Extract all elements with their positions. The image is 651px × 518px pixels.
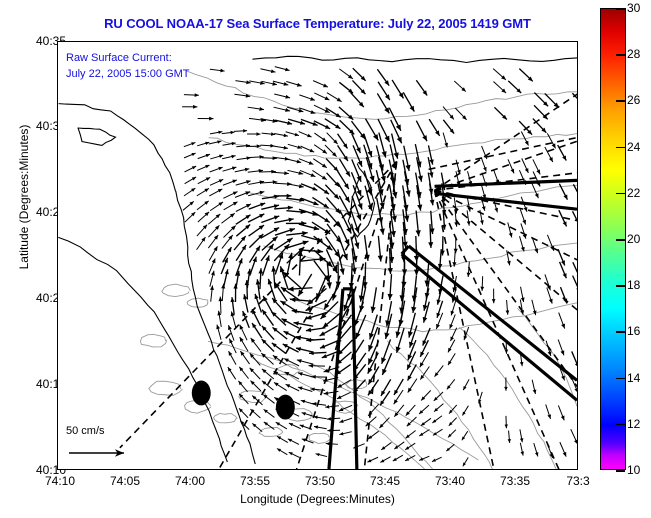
colorbar-tick-label: 30 (627, 1, 640, 15)
scale-legend-label: 50 cm/s (66, 425, 105, 437)
surface-current-vectors (182, 67, 577, 467)
map-vector-layer (58, 42, 577, 469)
colorbar-tick-mark (616, 8, 625, 10)
x-tick-label: 73:50 (305, 474, 335, 488)
colorbar-tick-mark (616, 331, 625, 333)
figure-canvas: RU COOL NOAA-17 Sea Surface Temperature:… (0, 0, 651, 518)
x-tick-label: 74:00 (175, 474, 205, 488)
colorbar-tick-mark (616, 54, 625, 56)
colorbar-tick-mark (616, 147, 625, 149)
colorbar-tick-label: 22 (627, 186, 640, 200)
colorbar-tick-mark (616, 424, 625, 426)
colorbar-tick-mark (616, 100, 625, 102)
map-plot-area: Raw Surface Current: July 22, 2005 15:00… (57, 41, 578, 470)
colorbar-tick-label: 12 (627, 417, 640, 431)
x-tick-label: 74:05 (110, 474, 140, 488)
x-tick-label: 73:3 (566, 474, 589, 488)
scale-legend: 50 cm/s (66, 425, 176, 465)
colorbar-tick-mark (616, 285, 625, 287)
figure-title: RU COOL NOAA-17 Sea Surface Temperature:… (57, 16, 578, 31)
x-axis-label: Longitude (Degrees:Minutes) (57, 492, 578, 506)
colorbar-tick-mark (616, 239, 625, 241)
colorbar-tick-label: 28 (627, 47, 640, 61)
colorbar-tick-mark (616, 193, 625, 195)
radar-radial-lines (120, 42, 577, 469)
reference-arrow-icon (68, 446, 138, 460)
x-tick-label: 73:35 (500, 474, 530, 488)
colorbar-tick-label: 18 (627, 278, 640, 292)
colorbar-tick-label: 26 (627, 93, 640, 107)
x-tick-label: 73:45 (370, 474, 400, 488)
colorbar-tick-mark (616, 470, 625, 472)
colorbar-tick-label: 16 (627, 324, 640, 338)
x-tick-label: 74:10 (45, 474, 75, 488)
y-axis-label: Latitude (Degrees:Minutes) (17, 87, 31, 307)
colorbar-tick-label: 24 (627, 140, 640, 154)
colorbar-tick-mark (616, 378, 625, 380)
colorbar-tick-label: 10 (627, 463, 640, 477)
station-marker-east (276, 395, 295, 420)
colorbar-tick-label: 14 (627, 371, 640, 385)
colorbar-tick-label: 20 (627, 232, 640, 246)
station-marker-west (192, 381, 211, 406)
x-tick-label: 73:55 (240, 474, 270, 488)
x-tick-label: 73:40 (435, 474, 465, 488)
